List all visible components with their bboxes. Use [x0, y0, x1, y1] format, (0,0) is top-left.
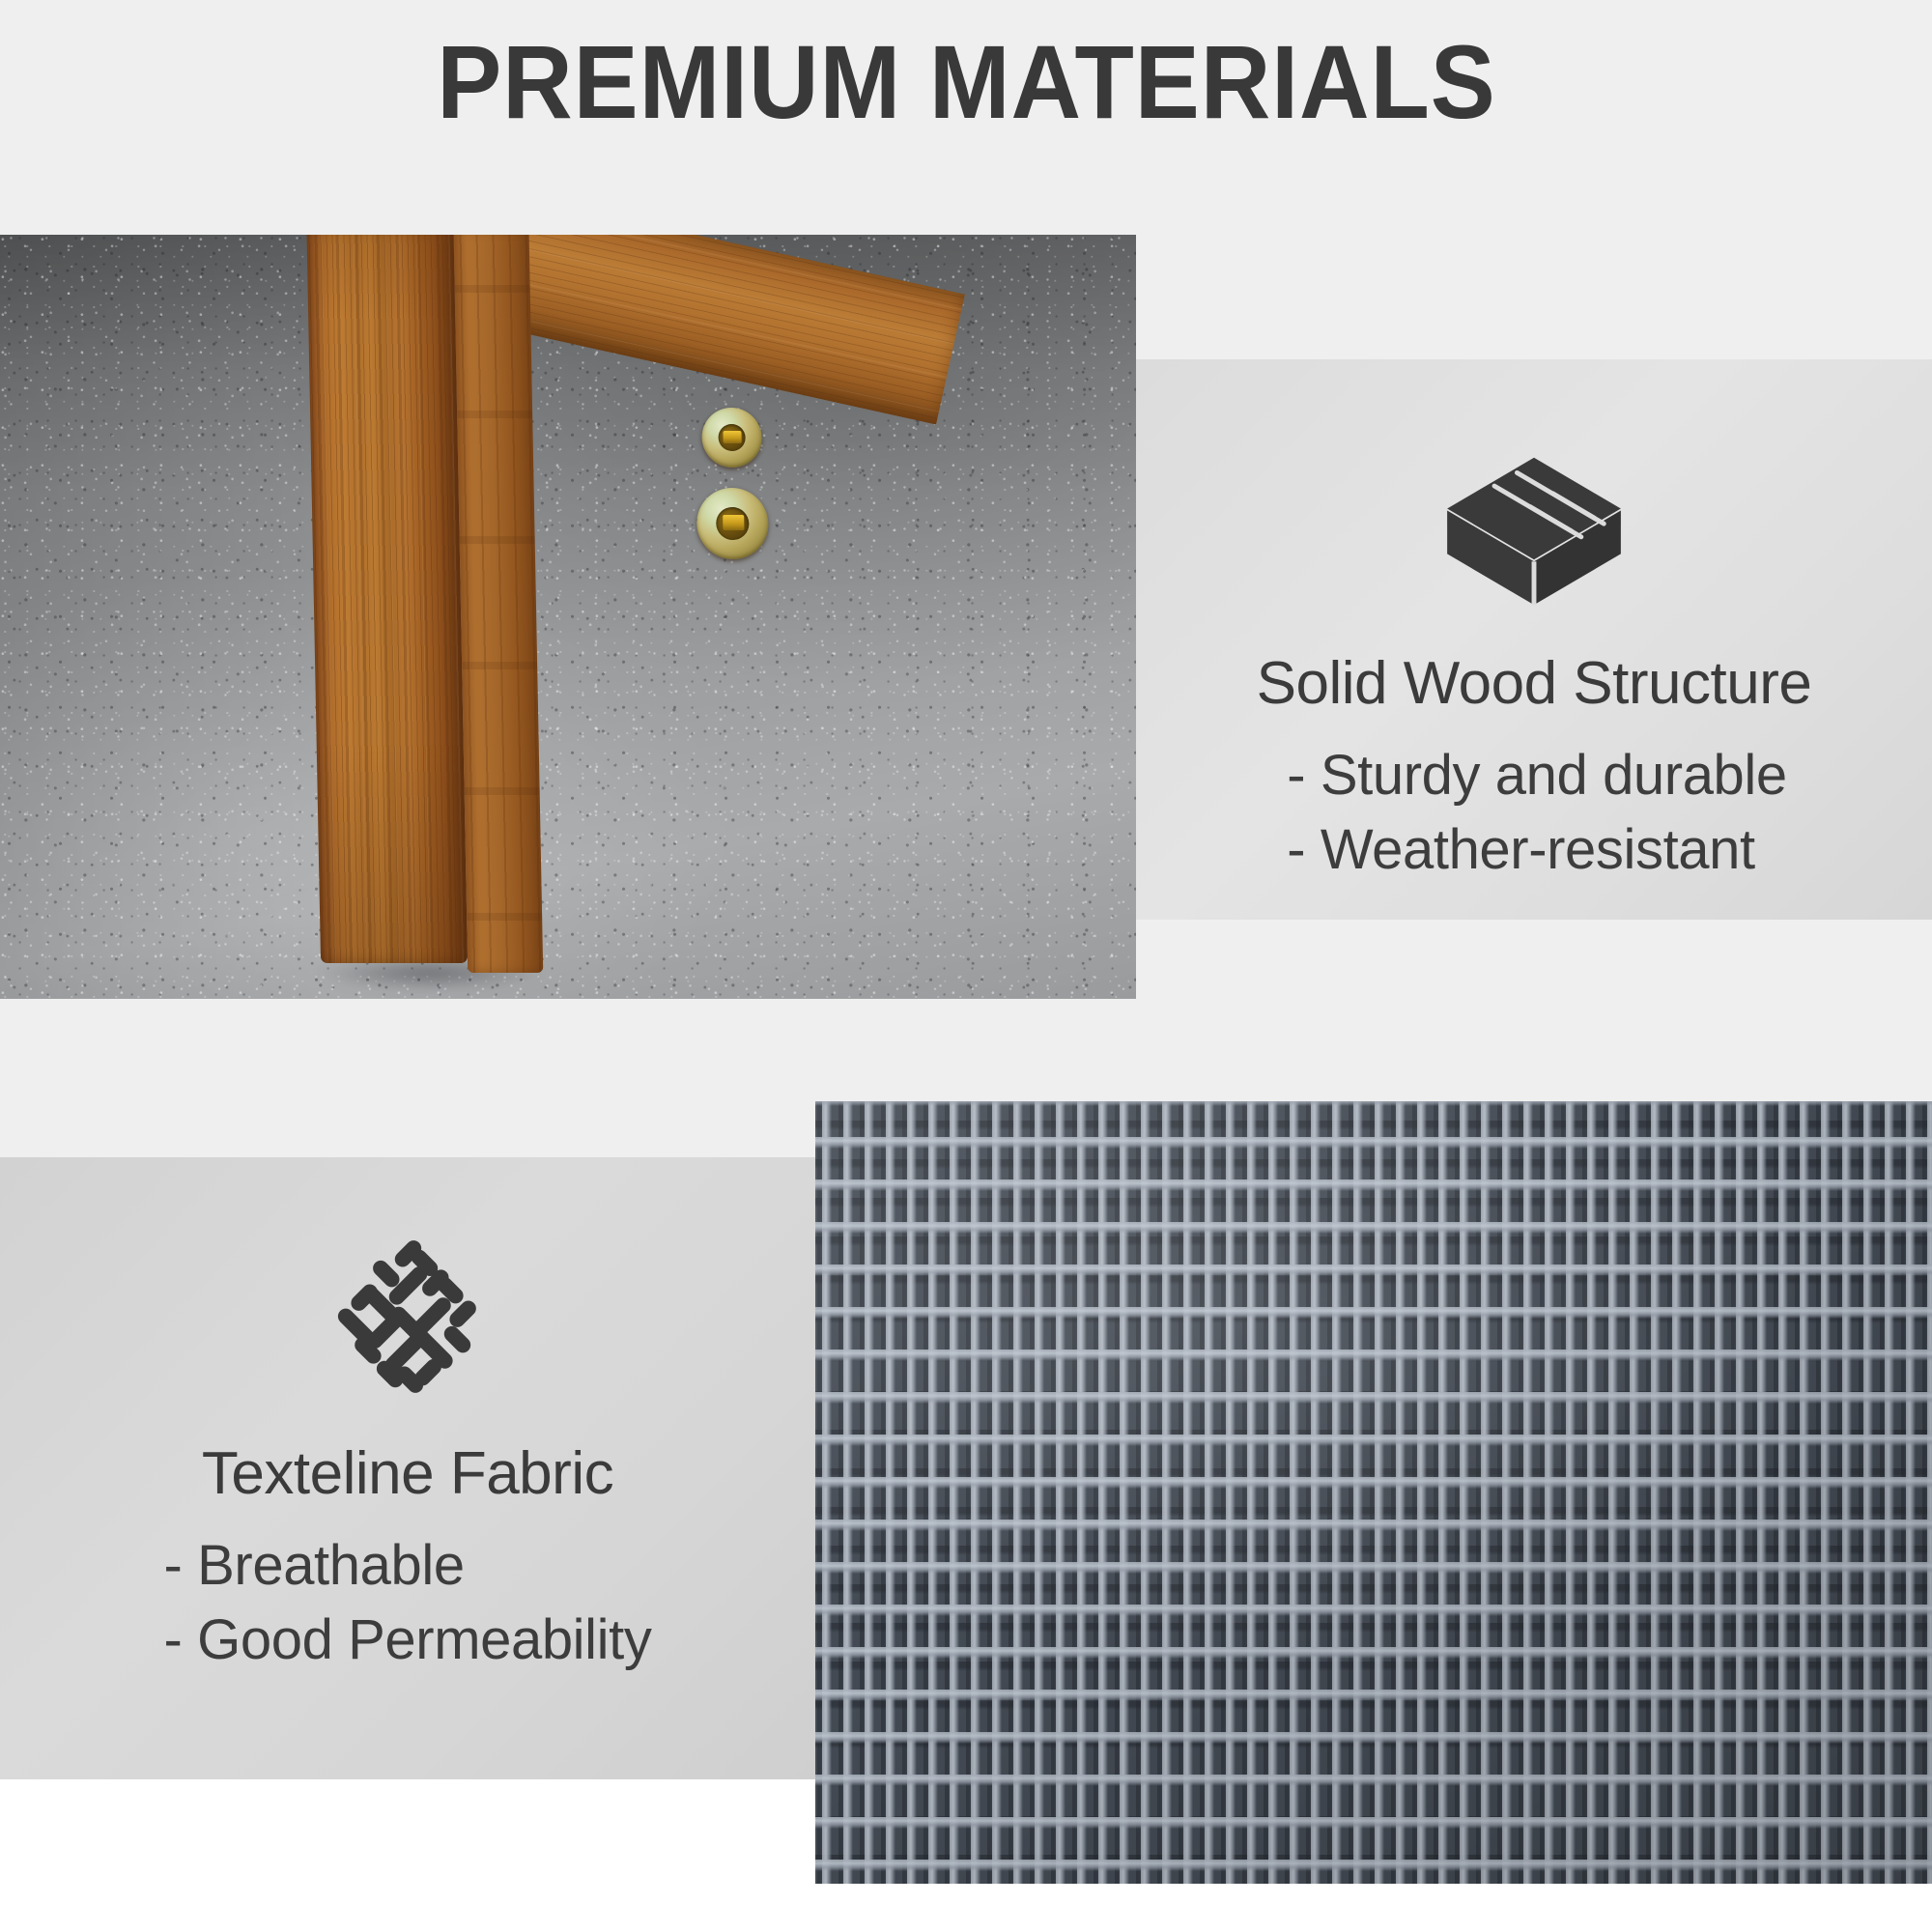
- feature-heading-solid-wood: Solid Wood Structure: [1257, 649, 1812, 718]
- hex-bolt-icon: [696, 488, 769, 559]
- bullet-item: - Breathable: [164, 1529, 465, 1604]
- wooden-leg: [306, 235, 543, 987]
- leg-side-grain: [453, 235, 543, 973]
- wooden-table-leg-photo: [0, 235, 1136, 999]
- feature-panel-solid-wood: Solid Wood Structure - Sturdy and durabl…: [1136, 359, 1932, 920]
- infographic-canvas: PREMIUM MATERIALS: [0, 0, 1932, 1932]
- woven-fabric-icon: [326, 1235, 490, 1399]
- bullet-item: - Sturdy and durable: [1281, 739, 1787, 813]
- wood-block-icon: [1439, 448, 1629, 611]
- hex-bolt-icon: [701, 408, 762, 468]
- texteline-fabric-weave-photo: [815, 1101, 1932, 1884]
- concrete-speckle-layer-fine: [0, 235, 1136, 999]
- leg-front-shading: [306, 235, 468, 963]
- feature-bullets-texteline: - Breathable - Good Permeability: [164, 1529, 652, 1677]
- page-title: PREMIUM MATERIALS: [437, 21, 1495, 142]
- feature-bullets-solid-wood: - Sturdy and durable - Weather-resistant: [1281, 739, 1787, 887]
- header-bar: PREMIUM MATERIALS: [0, 0, 1932, 235]
- bolt-hex-socket: [724, 431, 742, 444]
- feature-panel-texteline-fabric: Texteline Fabric - Breathable - Good Per…: [0, 1157, 815, 1779]
- bolt-hex-socket: [723, 515, 744, 530]
- bullet-item: - Good Permeability: [164, 1604, 652, 1678]
- leg-side-face: [453, 235, 543, 973]
- bullet-item: - Weather-resistant: [1281, 813, 1755, 888]
- feature-heading-texteline: Texteline Fabric: [202, 1439, 613, 1508]
- weave-lighting: [815, 1101, 1932, 1884]
- leg-front-face: [306, 235, 468, 963]
